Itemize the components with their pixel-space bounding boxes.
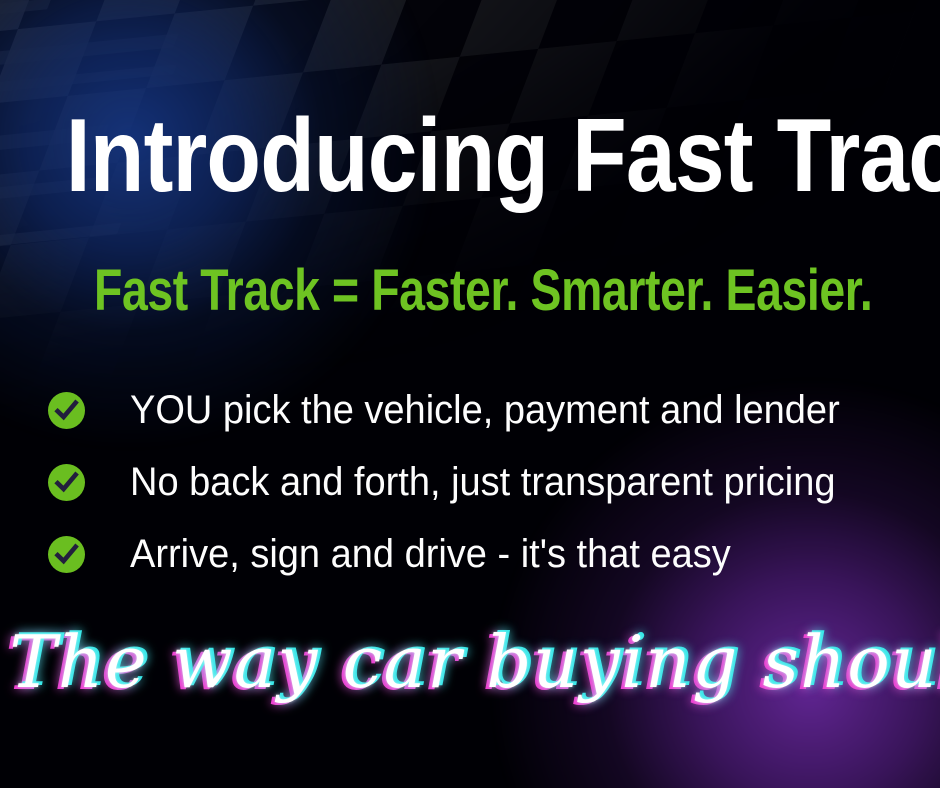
list-item-label: YOU pick the vehicle, payment and lender [130,390,840,430]
page-title: Introducing Fast Track [66,104,874,208]
page-subtitle: Fast Track = Faster. Smarter. Easier. [94,262,846,320]
list-item: Arrive, sign and drive - it's that easy [48,518,908,590]
list-item-label: No back and forth, just transparent pric… [130,462,835,502]
check-circle-icon [48,536,85,573]
poster-content: Introducing Fast Track Fast Track = Fast… [0,0,940,788]
list-item: YOU pick the vehicle, payment and lender [48,374,908,446]
promo-poster: Introducing Fast Track Fast Track = Fast… [0,0,940,788]
benefit-list: YOU pick the vehicle, payment and lender… [48,374,908,590]
check-circle-icon [48,464,85,501]
list-item-label: Arrive, sign and drive - it's that easy [130,534,731,574]
tagline-text: The way car buying should be. [9,612,930,712]
list-item: No back and forth, just transparent pric… [48,446,908,518]
script-tagline: The way car buying should be. The way ca… [0,612,940,722]
check-circle-icon [48,392,85,429]
